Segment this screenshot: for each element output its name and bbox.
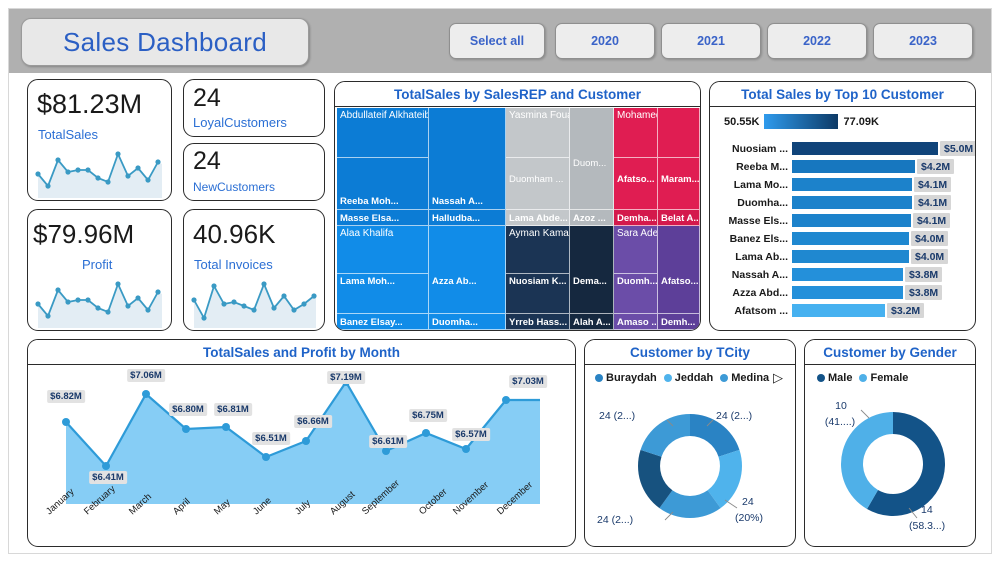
- slicer-select-all[interactable]: Select all: [449, 23, 545, 59]
- treemap-rep-label: Mohamed Musallam: [617, 110, 658, 121]
- treemap-cell[interactable]: Sara Adel: [614, 226, 658, 274]
- bar-fill: [792, 160, 915, 173]
- legend-label: Jeddah: [675, 372, 714, 384]
- report-canvas: Sales Dashboard Select all 2020 2021 202…: [8, 8, 992, 554]
- treemap-child-label: Belat A...: [661, 213, 700, 224]
- gradient-legend-bar: [764, 114, 838, 129]
- bar-row[interactable]: Afatsom ... $3.2M: [718, 302, 970, 319]
- treemap-cell[interactable]: Duomham ...: [506, 158, 570, 210]
- treemap-cell[interactable]: Nuosiam K...: [506, 274, 570, 314]
- bar-row[interactable]: Masse Els... $4.1M: [718, 212, 970, 229]
- treemap-cell[interactable]: Dema...: [570, 226, 614, 314]
- bar-fill: [792, 286, 903, 299]
- slicer-label: 2021: [697, 34, 725, 48]
- treemap-cell[interactable]: Lama Abde...: [506, 210, 570, 226]
- customer-by-tcity-title: Customer by TCity: [585, 340, 795, 365]
- slicer-label: 2020: [591, 34, 619, 48]
- treemap-child-label: Duomham ...: [509, 174, 563, 185]
- treemap-cell[interactable]: Demha...: [614, 210, 658, 226]
- treemap-cell[interactable]: Lama Moh...: [337, 274, 429, 314]
- treemap-child-label: Afatso...: [661, 276, 698, 287]
- legend-label: Medina: [731, 372, 769, 384]
- sales-profit-month-card[interactable]: TotalSales and Profit by Month $6.82M $6…: [27, 339, 576, 547]
- bar-fill: [792, 196, 912, 209]
- top10-bars-plot[interactable]: Nuosiam ... $5.0M Reeba M... $4.2M Lama …: [718, 140, 970, 322]
- legend-item-buraydah[interactable]: Buraydah: [595, 372, 657, 384]
- bar-value-label: $4.1M: [914, 177, 951, 192]
- bar-category-label: Nassah A...: [718, 266, 788, 283]
- bar-category-label: Banez Els...: [718, 230, 788, 247]
- donut-data-label: 24: [742, 496, 754, 508]
- bar-fill: [792, 178, 912, 191]
- treemap-cell[interactable]: Nassah A...: [429, 108, 506, 210]
- slicer-2022[interactable]: 2022: [767, 23, 867, 59]
- treemap-plot[interactable]: Abdullateif Alkhateib Reeba Moh... Nassa…: [337, 108, 700, 330]
- kpi-new-customers-label: NewCustomers: [193, 180, 275, 194]
- treemap-child-label: Duomha...: [432, 317, 478, 328]
- slicer-2020[interactable]: 2020: [555, 23, 655, 59]
- kpi-loyal-customers-label: LoyalCustomers: [193, 115, 287, 130]
- legend-label: Female: [870, 372, 908, 384]
- area-chart-svg: [28, 367, 575, 545]
- point-label: $6.81M: [214, 403, 252, 416]
- gradient-legend-min: 50.55K: [724, 116, 759, 128]
- treemap-cell[interactable]: Maram...: [658, 158, 700, 210]
- point-label: $6.51M: [252, 432, 290, 445]
- gradient-legend-max: 77.09K: [843, 116, 878, 128]
- legend-label: Buraydah: [606, 372, 657, 384]
- top10-customers-title: Total Sales by Top 10 Customer: [710, 82, 975, 107]
- point-label: $6.57M: [452, 428, 490, 441]
- bar-fill: [792, 268, 903, 281]
- sparkline-profit: [34, 278, 167, 328]
- bar-value-label: $4.2M: [917, 159, 954, 174]
- treemap-child-label: Nuosiam K...: [509, 276, 567, 287]
- legend-item-medina[interactable]: Medina: [720, 372, 769, 384]
- treemap-child-label: Amaso ...: [617, 317, 658, 328]
- gender-legend[interactable]: Male Female: [817, 372, 908, 384]
- treemap-cell[interactable]: Afatso...: [614, 158, 658, 210]
- treemap-cell[interactable]: Yasmina Fouad: [506, 108, 570, 158]
- treemap-child-label: Azza Ab...: [432, 276, 477, 287]
- kpi-total-sales-label: TotalSales: [38, 127, 98, 142]
- kpi-new-customers-value: 24: [193, 149, 221, 174]
- treemap-title: TotalSales by SalesREP and Customer: [335, 82, 700, 107]
- point-label: $7.03M: [509, 375, 547, 388]
- slicer-2023[interactable]: 2023: [873, 23, 973, 59]
- treemap-card[interactable]: TotalSales by SalesREP and Customer Abdu…: [334, 81, 701, 331]
- bar-fill: [792, 214, 911, 227]
- treemap-cell[interactable]: Afatso...: [658, 226, 700, 314]
- bar-row[interactable]: Nassah A... $3.8M: [718, 266, 970, 283]
- bar-category-label: Reeba M...: [718, 158, 788, 175]
- donut-data-label: (58.3...): [909, 520, 945, 532]
- treemap-child-label: Reeba Moh...: [340, 196, 399, 207]
- treemap-child-label: Halludba...: [432, 213, 480, 224]
- treemap-cell[interactable]: Yrreb Hass...: [506, 314, 570, 330]
- kpi-card-profit[interactable]: $79.96M Profit: [27, 209, 172, 331]
- treemap-rep-label: Yasmina Fouad: [509, 110, 570, 121]
- slicer-label: 2023: [909, 34, 937, 48]
- slicer-2021[interactable]: 2021: [661, 23, 761, 59]
- gender-donut-svg: [805, 392, 975, 544]
- dashboard-page: Sales Dashboard Select all 2020 2021 202…: [0, 0, 1000, 562]
- treemap-cell[interactable]: Demh...: [658, 314, 700, 330]
- legend-swatch-icon: [664, 374, 672, 382]
- tcity-donut-plot[interactable]: 24 (2...) 24 (2...) 24 (20%) 24 (2...): [585, 392, 795, 544]
- customer-by-gender-card[interactable]: Customer by Gender Male Female: [804, 339, 976, 547]
- bar-row[interactable]: Lama Ab... $4.0M: [718, 248, 970, 265]
- treemap-cell[interactable]: Banez Elsay...: [337, 314, 429, 330]
- tcity-legend[interactable]: Buraydah Jeddah Medina: [595, 372, 769, 384]
- treemap-cell[interactable]: Azoz ...: [570, 210, 614, 226]
- donut-data-label: 24 (2...): [716, 410, 752, 422]
- treemap-cell[interactable]: Duomha...: [429, 314, 506, 330]
- treemap-child-label: Azoz ...: [573, 213, 606, 224]
- point-label: $6.82M: [47, 390, 85, 403]
- treemap-child-label: Masse Elsa...: [340, 213, 399, 224]
- bar-value-label: $3.8M: [905, 267, 942, 282]
- kpi-loyal-customers-value: 24: [193, 86, 221, 111]
- bar-value-label: $5.0M: [940, 141, 976, 156]
- point-label: $7.06M: [127, 369, 165, 382]
- sales-profit-month-title: TotalSales and Profit by Month: [28, 340, 575, 365]
- legend-swatch-icon: [817, 374, 825, 382]
- bar-value-label: $3.8M: [905, 285, 942, 300]
- kpi-profit-value: $79.96M: [33, 221, 134, 247]
- kpi-card-new-customers[interactable]: 24 NewCustomers: [183, 143, 325, 201]
- bar-category-label: Nuosiam ...: [718, 140, 788, 157]
- bar-value-label: $4.0M: [911, 231, 948, 246]
- bar-category-label: Lama Ab...: [718, 248, 788, 265]
- point-label: $6.66M: [294, 415, 332, 428]
- bar-row[interactable]: Lama Mo... $4.1M: [718, 176, 970, 193]
- bar-fill: [792, 142, 938, 155]
- kpi-total-sales-value: $81.23M: [37, 91, 142, 118]
- treemap-child-label: Alah A...: [573, 317, 611, 328]
- treemap-child-label: Lama Moh...: [340, 276, 395, 287]
- point-label: $6.41M: [89, 471, 127, 484]
- point-label: $6.80M: [169, 403, 207, 416]
- legend-swatch-icon: [859, 374, 867, 382]
- page-title-text: Sales Dashboard: [63, 27, 267, 58]
- bar-row[interactable]: Nuosiam ... $5.0M: [718, 140, 970, 157]
- treemap-rep-label: Ayman Kamal: [509, 228, 570, 239]
- kpi-card-total-sales[interactable]: $81.23M TotalSales: [27, 79, 172, 201]
- customer-by-tcity-card[interactable]: Customer by TCity Buraydah Jeddah Medina…: [584, 339, 796, 547]
- bar-fill: [792, 250, 909, 263]
- point-label: $6.75M: [409, 409, 447, 422]
- kpi-total-invoices-value: 40.96K: [193, 221, 275, 247]
- treemap-child-label: Nassah A...: [432, 196, 483, 207]
- treemap-cell[interactable]: Belat A...: [658, 210, 700, 226]
- gradient-legend: 50.55K 77.09K: [724, 114, 879, 129]
- legend-swatch-icon: [720, 374, 728, 382]
- bar-fill: [792, 304, 885, 317]
- bar-row[interactable]: Duomha... $4.1M: [718, 194, 970, 211]
- donut-data-label: 24 (2...): [599, 410, 635, 422]
- treemap-cell[interactable]: Abdullateif Alkhateib: [337, 108, 429, 158]
- kpi-profit-label: Profit: [82, 257, 112, 272]
- treemap-child-label: Dema...: [573, 276, 607, 287]
- bar-row[interactable]: Reeba M... $4.2M: [718, 158, 970, 175]
- treemap-rep-label: Sara Adel: [617, 228, 658, 239]
- bar-row[interactable]: Banez Els... $4.0M: [718, 230, 970, 247]
- legend-item-female[interactable]: Female: [859, 372, 908, 384]
- kpi-total-invoices-label: Total Invoices: [194, 257, 273, 272]
- sparkline-total-sales: [34, 148, 167, 198]
- treemap-cell[interactable]: [658, 108, 700, 158]
- treemap-cell[interactable]: Ayman Kamal: [506, 226, 570, 274]
- treemap-cell[interactable]: Amaso ...: [614, 314, 658, 330]
- treemap-cell[interactable]: Halludba...: [429, 210, 506, 226]
- legend-swatch-icon: [595, 374, 603, 382]
- treemap-cell[interactable]: Alah A...: [570, 314, 614, 330]
- bar-value-label: $4.0M: [911, 249, 948, 264]
- customer-by-gender-title: Customer by Gender: [805, 340, 975, 365]
- slicer-label: 2022: [803, 34, 831, 48]
- point-label: $7.19M: [327, 371, 365, 384]
- point-label: $6.61M: [369, 435, 407, 448]
- bar-row[interactable]: Azza Abd... $3.8M: [718, 284, 970, 301]
- legend-item-male[interactable]: Male: [817, 372, 852, 384]
- treemap-child-label: Banez Elsay...: [340, 317, 403, 328]
- gender-donut-plot[interactable]: 10 (41....) 14 (58.3...): [805, 392, 975, 544]
- donut-data-label: 14: [921, 504, 933, 516]
- bar-value-label: $4.1M: [914, 195, 951, 210]
- kpi-card-total-invoices[interactable]: 40.96K Total Invoices: [183, 209, 325, 331]
- bar-category-label: Azza Abd...: [718, 284, 788, 301]
- bar-category-label: Lama Mo...: [718, 176, 788, 193]
- treemap-cell[interactable]: Reeba Moh...: [337, 158, 429, 210]
- bar-value-label: $4.1M: [913, 213, 950, 228]
- bar-category-label: Afatsom ...: [718, 302, 788, 319]
- treemap-cell[interactable]: Duomh...: [614, 274, 658, 314]
- treemap-child-label: Lama Abde...: [509, 213, 568, 224]
- treemap-cell[interactable]: Masse Elsa...: [337, 210, 429, 226]
- sparkline-total-invoices: [190, 278, 321, 328]
- treemap-cell[interactable]: Alaa Khalifa: [337, 226, 429, 274]
- treemap-child-label: Duom...: [573, 158, 606, 169]
- slicer-label: Select all: [470, 34, 524, 48]
- donut-data-label: 24 (2...): [597, 514, 633, 526]
- kpi-card-loyal-customers[interactable]: 24 LoyalCustomers: [183, 79, 325, 137]
- treemap-child-label: Yrreb Hass...: [509, 317, 567, 328]
- bar-category-label: Masse Els...: [718, 212, 788, 229]
- treemap-child-label: Duomh...: [617, 276, 658, 287]
- treemap-rep-label: Abdullateif Alkhateib: [340, 110, 429, 121]
- treemap-child-label: Maram...: [661, 174, 700, 185]
- area-chart-plot[interactable]: $6.82M $6.41M $7.06M $6.80M $6.81M $6.51…: [28, 367, 575, 545]
- bar-value-label: $3.2M: [887, 303, 924, 318]
- treemap-child-label: Demha...: [617, 213, 657, 224]
- treemap-cell[interactable]: Mohamed Musallam: [614, 108, 658, 158]
- legend-next-page-icon[interactable]: ▷: [773, 370, 783, 386]
- page-title: Sales Dashboard: [21, 18, 309, 66]
- bar-category-label: Duomha...: [718, 194, 788, 211]
- treemap-cell[interactable]: Duom...: [570, 108, 614, 210]
- legend-label: Male: [828, 372, 852, 384]
- treemap-child-label: Alaa Khalifa: [340, 228, 393, 239]
- donut-data-label: (20%): [735, 512, 763, 524]
- donut-data-label: 10: [825, 400, 857, 412]
- top10-customers-card[interactable]: Total Sales by Top 10 Customer 50.55K 77…: [709, 81, 976, 331]
- donut-data-label: (41....): [811, 416, 869, 428]
- treemap-child-label: Afatso...: [617, 174, 654, 185]
- treemap-child-label: Demh...: [661, 317, 695, 328]
- bar-fill: [792, 232, 909, 245]
- legend-item-jeddah[interactable]: Jeddah: [664, 372, 714, 384]
- treemap-cell[interactable]: Azza Ab...: [429, 226, 506, 314]
